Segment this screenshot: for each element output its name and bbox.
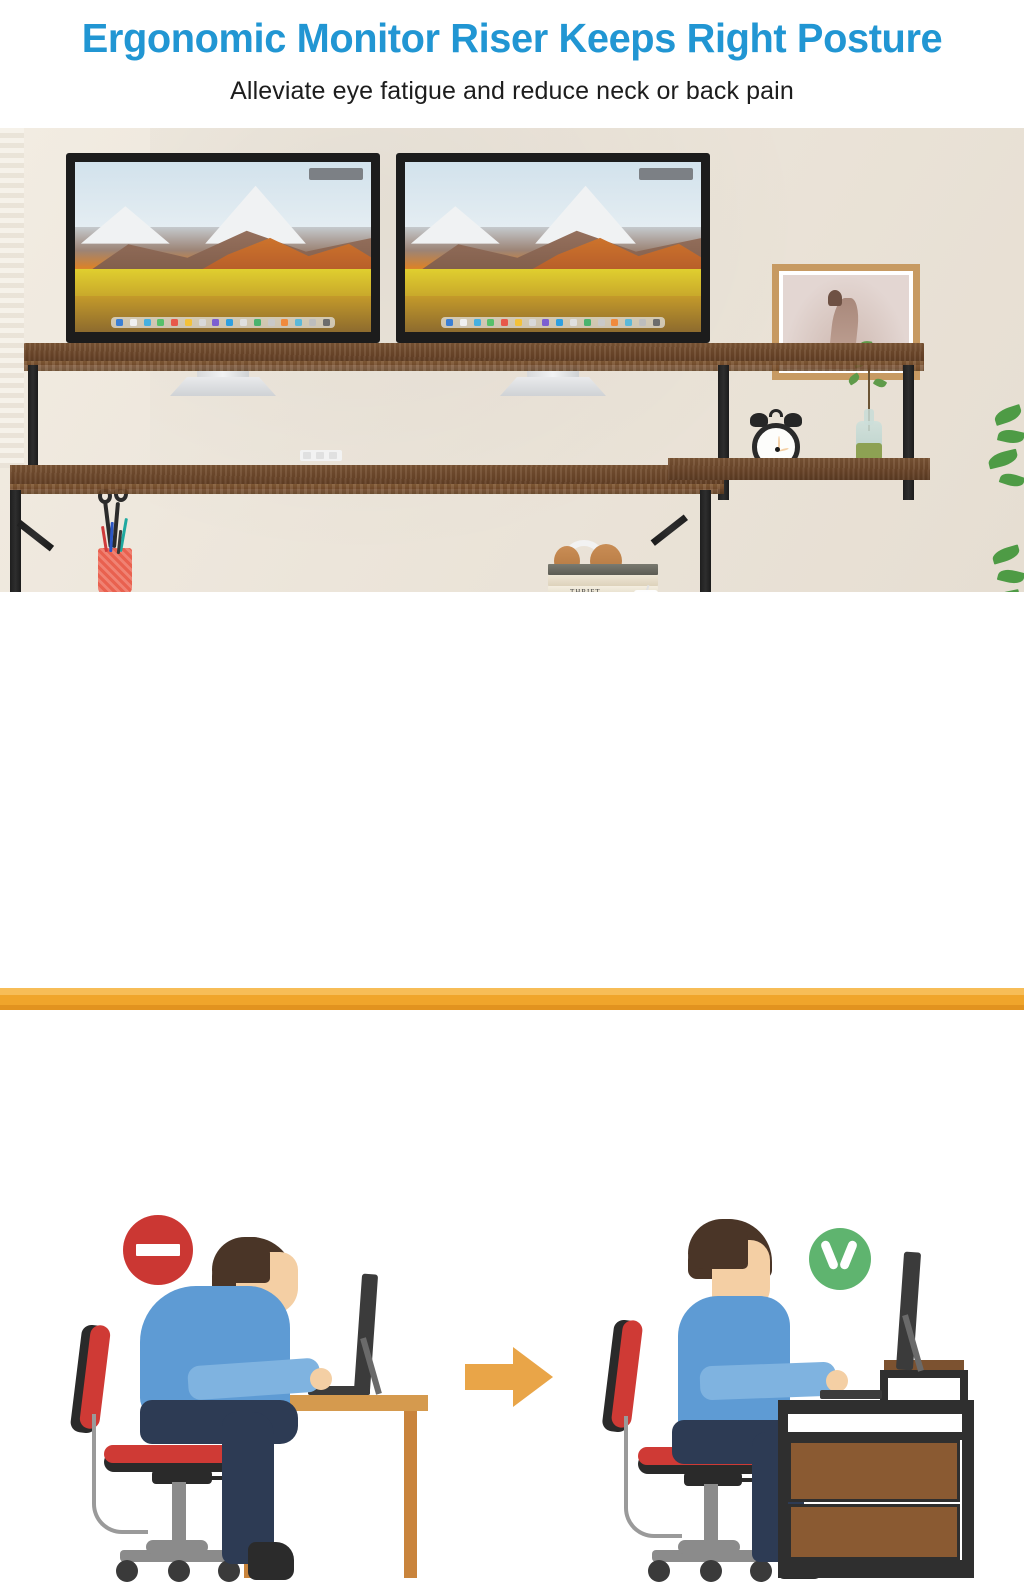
outlet-socket[interactable]: [303, 452, 311, 459]
dock-icon[interactable]: [556, 319, 563, 326]
wallpaper-meadow: [75, 269, 371, 296]
plant-leaf: [999, 471, 1024, 490]
chair-caster: [648, 1560, 670, 1582]
header-banner: Ergonomic Monitor Riser Keeps Right Post…: [0, 0, 1024, 128]
dock-icon[interactable]: [240, 319, 247, 326]
hand: [310, 1368, 332, 1390]
dock-icon[interactable]: [199, 319, 206, 326]
riser-frame-bar: [880, 1370, 968, 1378]
minus-icon: [136, 1244, 180, 1256]
webcam-icon: [223, 155, 227, 159]
monitor-bezel: [396, 153, 710, 343]
dock-icon[interactable]: [144, 319, 151, 326]
window-badge: [309, 168, 363, 180]
cabinet-divider: [778, 1432, 974, 1440]
dock-icon[interactable]: [515, 319, 522, 326]
clock-center-pin: [775, 447, 780, 452]
curtain: [0, 128, 24, 468]
dock-icon[interactable]: [501, 319, 508, 326]
side-shelf-top: [668, 458, 930, 480]
chair-base-hub: [146, 1540, 208, 1554]
hips: [140, 1400, 298, 1444]
dock-icon[interactable]: [474, 319, 481, 326]
arrow-head: [513, 1347, 553, 1407]
clock-hand-hour: [779, 447, 789, 452]
book: [548, 575, 658, 586]
shoe: [248, 1542, 294, 1580]
page-title: Ergonomic Monitor Riser Keeps Right Post…: [15, 0, 1008, 59]
plant-leaf: [993, 404, 1024, 426]
cabinet-side-right: [962, 1400, 974, 1578]
desk-leg: [404, 1411, 417, 1578]
page-subtitle: Alleviate eye fatigue and reduce neck or…: [0, 59, 1024, 106]
desk-leg-right: [700, 490, 711, 592]
dock-icon[interactable]: [226, 319, 233, 326]
dock-icon[interactable]: [309, 319, 316, 326]
chair-caster: [750, 1560, 772, 1582]
chair-caster: [168, 1560, 190, 1582]
prohibition-badge: [123, 1215, 193, 1285]
floor-plant: [964, 408, 1024, 592]
dock-icon[interactable]: [116, 319, 123, 326]
riser-shelf-edge: [24, 361, 924, 371]
hair-front: [688, 1219, 748, 1269]
potted-plant: [852, 403, 886, 463]
floor-line: [0, 988, 1024, 1010]
dock-icon[interactable]: [611, 319, 618, 326]
dock-icon[interactable]: [295, 319, 302, 326]
approved-badge: [809, 1228, 871, 1290]
webcam-icon: [553, 155, 557, 159]
drawer-bottom: [788, 1504, 960, 1560]
hand: [826, 1370, 848, 1392]
book: [548, 564, 658, 575]
clock-hammer: [769, 409, 783, 417]
plant-leaf: [991, 544, 1021, 564]
dock-icon[interactable]: [584, 319, 591, 326]
dock-icon[interactable]: [157, 319, 164, 326]
dock-icon[interactable]: [268, 319, 275, 326]
arrow-shaft: [465, 1364, 517, 1390]
plant-leaf: [997, 427, 1024, 445]
hair-front: [212, 1237, 270, 1283]
dock-icon[interactable]: [625, 319, 632, 326]
dock-icon[interactable]: [281, 319, 288, 326]
dock-icon[interactable]: [254, 319, 261, 326]
monitor-left: [66, 153, 380, 343]
monitor-right: [396, 153, 710, 343]
dock-icon[interactable]: [171, 319, 178, 326]
monitor-screen: [75, 162, 371, 332]
dock-icon[interactable]: [487, 319, 494, 326]
dock-icon[interactable]: [185, 319, 192, 326]
monitor-foot: [500, 377, 606, 396]
monitor-foot: [170, 377, 276, 396]
dock-icon[interactable]: [542, 319, 549, 326]
cabinet-side-left: [778, 1400, 788, 1578]
chair-caster: [116, 1560, 138, 1582]
dock-icon[interactable]: [446, 319, 453, 326]
chair-base-hub: [678, 1540, 740, 1554]
dock-icon[interactable]: [653, 319, 660, 326]
pen-cup: [98, 548, 132, 592]
macos-dock[interactable]: [111, 317, 336, 328]
arm: [699, 1362, 836, 1401]
outlet-socket[interactable]: [329, 452, 337, 459]
dock-icon[interactable]: [323, 319, 330, 326]
dock-icon[interactable]: [639, 319, 646, 326]
art-figure-shape: [828, 290, 842, 306]
posture-comparison-illustration: [0, 592, 1024, 1024]
outlet-socket[interactable]: [316, 452, 324, 459]
dock-icon[interactable]: [212, 319, 219, 326]
dock-icon[interactable]: [529, 319, 536, 326]
plant-leaf: [997, 567, 1024, 586]
plant-leaf: [987, 449, 1019, 470]
drawer-top: [788, 1440, 960, 1502]
monitor-bezel: [66, 153, 380, 343]
window-badge: [639, 168, 693, 180]
cabinet-top: [778, 1400, 974, 1414]
keyboard-illustration: [820, 1390, 882, 1399]
power-outlet[interactable]: [300, 450, 342, 461]
macos-dock[interactable]: [441, 317, 666, 328]
product-photo: THRIFT: [0, 128, 1024, 592]
cabinet-base: [778, 1560, 974, 1578]
desk-leg-left: [10, 490, 21, 592]
dock-icon[interactable]: [598, 319, 605, 326]
dock-icon[interactable]: [130, 319, 137, 326]
chair-caster: [700, 1560, 722, 1582]
check-icon: [823, 1240, 857, 1276]
monitor-screen: [405, 162, 701, 332]
desktop-edge: [10, 484, 724, 494]
dock-icon[interactable]: [460, 319, 467, 326]
wallpaper-meadow: [405, 269, 701, 296]
riser-leg-left: [28, 365, 38, 465]
dock-icon[interactable]: [570, 319, 577, 326]
transition-arrow: [465, 1347, 553, 1407]
